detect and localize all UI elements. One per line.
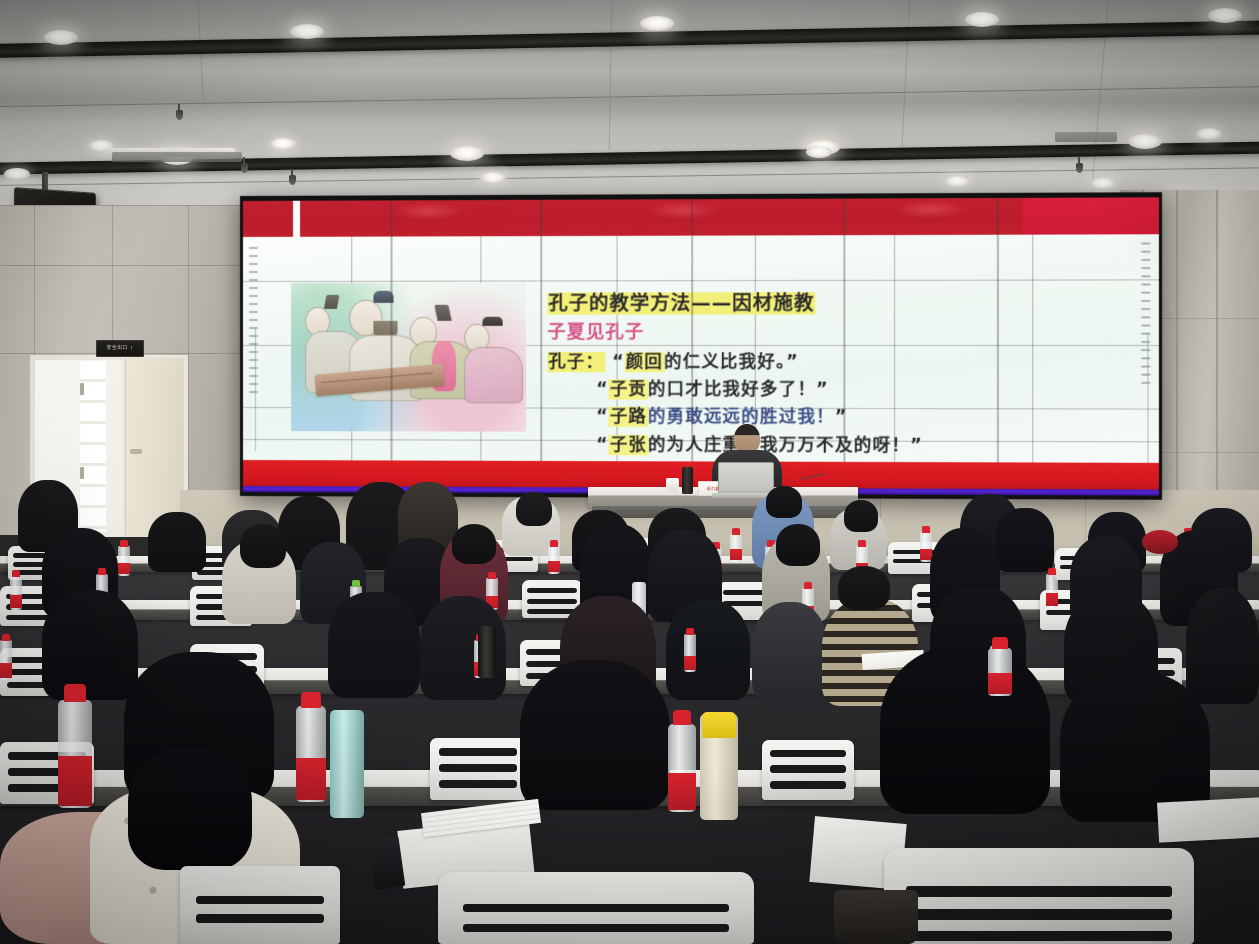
presenter-cup	[666, 478, 679, 492]
chair-front[interactable]	[180, 866, 340, 944]
thermos-lid	[702, 712, 736, 738]
ceiling-downlight	[965, 12, 999, 27]
audience-person	[752, 602, 828, 700]
sprinkler-head	[289, 175, 296, 185]
door-leaf[interactable]	[125, 358, 184, 537]
ruler-bar	[255, 329, 256, 451]
water-bottle	[10, 576, 22, 610]
water-bottle	[296, 706, 326, 802]
ceiling-downlight	[1128, 134, 1162, 149]
slide-band-right-segment	[1023, 197, 1159, 234]
audience-person	[996, 508, 1054, 572]
chair-front[interactable]	[438, 872, 754, 944]
exit-arrow-icon: ↑	[130, 345, 134, 352]
audience-head	[128, 748, 252, 870]
ceiling-air-vent	[1055, 132, 1117, 142]
water-bottle	[1046, 574, 1058, 608]
ceiling-panel-line	[609, 0, 613, 150]
ceiling-downlight	[944, 176, 970, 188]
audience-head	[776, 524, 820, 566]
panel-glare	[394, 202, 465, 220]
door-hinge	[80, 467, 84, 479]
wall-tile-seam	[188, 205, 189, 535]
chair[interactable]	[762, 740, 854, 800]
audience-person	[666, 600, 750, 700]
exit-sign: 安全出口 ↑	[96, 340, 144, 357]
chair-front[interactable]	[884, 848, 1194, 944]
water-bottle	[988, 648, 1012, 696]
ruler-bar	[1147, 333, 1148, 464]
videowall-bezel-seam	[540, 200, 542, 493]
ceiling-downlight	[4, 168, 30, 180]
handout-paper	[1157, 797, 1259, 842]
audience-person	[1060, 672, 1210, 822]
audience-head	[844, 500, 878, 532]
videowall-bezel-seam	[391, 200, 393, 492]
chair[interactable]	[430, 738, 526, 800]
slide-grid-line	[243, 279, 1159, 282]
slide-band-notch	[293, 201, 300, 237]
door-handle[interactable]	[130, 449, 142, 454]
audience-head	[240, 524, 286, 568]
water-bottle	[548, 546, 560, 574]
water-bottle	[118, 546, 130, 576]
water-bottle	[920, 532, 932, 562]
bag	[834, 890, 918, 944]
water-bottle	[684, 634, 696, 672]
audience-person	[42, 590, 138, 700]
audience-person	[148, 512, 206, 572]
sprinkler-head	[241, 163, 248, 173]
ceiling-downlight	[1196, 128, 1222, 140]
ceiling-downlight	[44, 30, 78, 45]
audience-person	[1186, 588, 1259, 704]
confucius-painting	[291, 283, 526, 432]
ceiling-panel-line	[901, 0, 910, 160]
ceiling-downlight	[640, 16, 674, 31]
ceiling-downlight	[1208, 8, 1242, 23]
ceiling-downlight	[290, 24, 324, 39]
videowall-bezel-seam	[691, 199, 693, 494]
ceiling-downlight	[450, 146, 484, 161]
lecture-hall-photo: 安全出口 ↑	[0, 0, 1259, 944]
presenter-thermos	[682, 467, 693, 494]
audience-person	[520, 660, 670, 810]
ceiling-downlight	[1090, 178, 1116, 190]
slide-right-ruler[interactable]	[1141, 238, 1155, 448]
ceiling-air-vent	[112, 152, 242, 162]
audience-person	[880, 646, 1050, 814]
sprinkler-head	[1076, 163, 1083, 173]
thermos-flask	[330, 710, 364, 818]
audience-head	[766, 486, 802, 518]
sprinkler-head	[176, 110, 183, 120]
door-hinge	[80, 383, 84, 395]
videowall-bezel-seam	[997, 198, 999, 495]
audience-head	[516, 492, 552, 526]
audience-person	[328, 592, 420, 698]
water-bottle	[668, 724, 696, 812]
presenter-desk-front	[592, 506, 854, 518]
ceiling-seam	[0, 85, 1259, 107]
video-wall[interactable]: 孔子的教学方法——因材施教 子夏见孔子 孔子： “颜回的仁义比我好。” “子贡的…	[240, 196, 1140, 496]
hair-accessory	[1142, 530, 1178, 554]
audience-head	[452, 524, 496, 564]
panel-glare	[647, 201, 719, 219]
presenter-laptop[interactable]	[718, 462, 774, 497]
thermos-flask	[478, 626, 496, 678]
panel-glare	[894, 200, 967, 219]
water-bottle	[0, 640, 12, 680]
water-bottle	[730, 534, 742, 562]
video-wall-display[interactable]: 孔子的教学方法——因材施教 子夏见孔子 孔子： “颜回的仁义比我好。” “子贡的…	[243, 197, 1159, 495]
slide-top-red-band	[243, 197, 1159, 237]
ceiling-beam	[0, 20, 1259, 59]
video-wall-bezel: 孔子的教学方法——因材施教 子夏见孔子 孔子： “颜回的仁义比我好。” “子贡的…	[240, 192, 1162, 500]
ceiling-downlight	[270, 138, 296, 150]
wall-tile-seam	[0, 265, 250, 266]
slide-canvas: 孔子的教学方法——因材施教 子夏见孔子 孔子： “颜回的仁义比我好。” “子贡的…	[243, 234, 1159, 463]
painting-figure-disciple-3	[464, 317, 521, 402]
exit-sign-text: 安全出口	[106, 346, 127, 351]
slide-left-ruler[interactable]	[249, 241, 262, 446]
wall-tile-seam	[0, 205, 250, 206]
ceiling-downlight	[806, 146, 832, 158]
videowall-bezel-seam	[843, 199, 845, 495]
audience-head	[838, 566, 890, 610]
ceiling-downlight	[480, 172, 506, 184]
water-bottle	[58, 700, 92, 808]
